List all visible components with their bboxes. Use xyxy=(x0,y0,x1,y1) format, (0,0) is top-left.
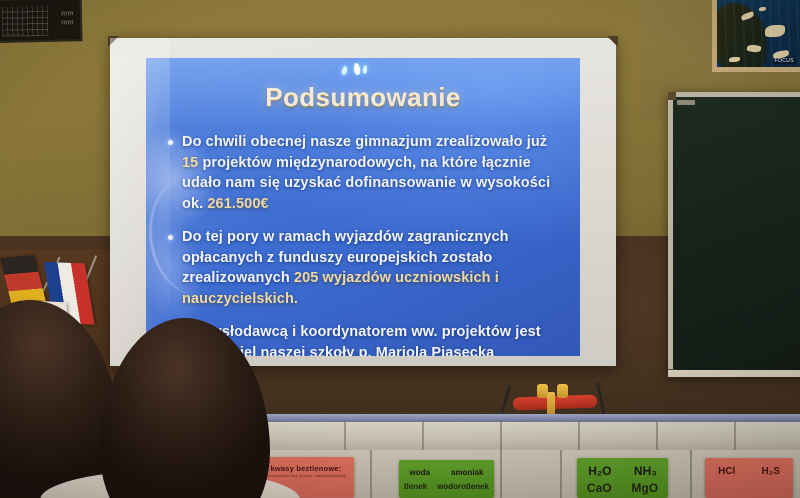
screen-corner-clip xyxy=(108,36,119,47)
bullet-text: Do tej pory w ramach wyjazdów zagraniczn… xyxy=(182,227,566,309)
slide-sparkle-icons xyxy=(342,62,382,78)
stand-rod xyxy=(596,382,606,416)
board-glyph-line-1: mm xyxy=(61,9,74,18)
chem-card-row: CaO MgO xyxy=(577,478,668,495)
chem-formula: HCl xyxy=(718,466,735,477)
chem-card-formulas-green: H₂O NH₃ CaO MgO xyxy=(577,458,668,498)
board-glyphs: mm mm xyxy=(61,9,74,27)
poster-texture xyxy=(717,0,800,67)
chem-card-formulas-red: HCl H₂S xyxy=(705,458,793,498)
sparkle-icon xyxy=(363,65,368,74)
chem-formula: MgO xyxy=(631,481,658,495)
bullet-dot-icon xyxy=(168,140,173,145)
sparkle-icon xyxy=(353,63,361,76)
cabinet-seam xyxy=(690,450,692,498)
chalkboard xyxy=(668,92,800,377)
bullet-text: Do chwili obecnej nasze gimnazjum zreali… xyxy=(182,132,566,214)
chem-card-title: kwasy beztlenowe: xyxy=(258,457,354,473)
chem-term: tlenek xyxy=(404,482,427,491)
slide-bullet-item: Do tej pory w ramach wyjazdów zagraniczn… xyxy=(166,227,566,309)
poster-caption: FOCUS xyxy=(773,58,797,64)
chem-formula: CaO xyxy=(587,481,612,495)
slide-bullet-list: Do chwili obecnej nasze gimnazjum zreali… xyxy=(166,132,566,356)
presentation-slide: Podsumowanie Do chwili obecnej nasze gim… xyxy=(146,58,580,356)
slide-bullet-item: Do chwili obecnej nasze gimnazjum zreali… xyxy=(166,132,566,214)
tile-seam xyxy=(656,422,658,452)
chalkboard-texture xyxy=(673,97,800,372)
chem-card-subtitle: chlorowodorowy (solny), siarkowodorowy xyxy=(258,473,354,479)
chem-term: wodorotlenek xyxy=(437,482,489,491)
sparkle-icon xyxy=(341,65,348,75)
chem-card-bases: woda amoniak tlenek wodorotlenek xyxy=(399,460,494,498)
chalkboard-corner xyxy=(668,92,676,100)
chem-card-row: tlenek wodorotlenek xyxy=(399,477,494,491)
projection-screen: Podsumowanie Do chwili obecnej nasze gim… xyxy=(110,38,616,366)
chem-formula: H₂S xyxy=(762,466,780,477)
chem-card-row: HCl H₂S xyxy=(705,458,793,477)
bullet-text-plain: Do chwili obecnej nasze gimnazjum zreali… xyxy=(182,134,547,150)
chem-card-row: woda amoniak xyxy=(399,460,494,477)
apparatus-knob xyxy=(557,384,568,398)
chem-card-row: H₂O NH₃ xyxy=(577,458,668,478)
tile-seam xyxy=(344,422,346,452)
board-glyph-line-2: mm xyxy=(61,18,74,27)
tile-seam xyxy=(578,422,580,452)
cabinet-seam xyxy=(560,450,562,498)
board-caption: ------------ xyxy=(4,31,24,36)
chem-formula: NH₃ xyxy=(634,464,657,478)
underwater-reef-poster: FOCUS xyxy=(712,0,800,72)
chem-formula: H₂O xyxy=(588,464,611,478)
bullet-text-highlight: 261.500€ xyxy=(207,196,268,212)
bullet-dot-icon xyxy=(168,235,173,240)
bullet-text-highlight: 15 xyxy=(182,155,198,171)
cabinet-seam xyxy=(500,450,502,498)
classroom-presentation-photo: mm mm ------------ FOCUS xyxy=(0,0,800,498)
chalkboard-clip xyxy=(677,100,695,105)
tile-seam xyxy=(734,422,736,452)
tile-seam xyxy=(422,422,424,452)
chalk-tray xyxy=(668,370,800,377)
chem-term: woda xyxy=(410,468,430,477)
tile-seam xyxy=(500,422,502,452)
chem-term: amoniak xyxy=(451,468,483,477)
wall-notice-board: mm mm ------------ xyxy=(0,0,82,43)
slide-title: Podsumowanie xyxy=(146,82,580,113)
cabinet-seam xyxy=(370,450,372,498)
apparatus-body xyxy=(513,395,597,411)
